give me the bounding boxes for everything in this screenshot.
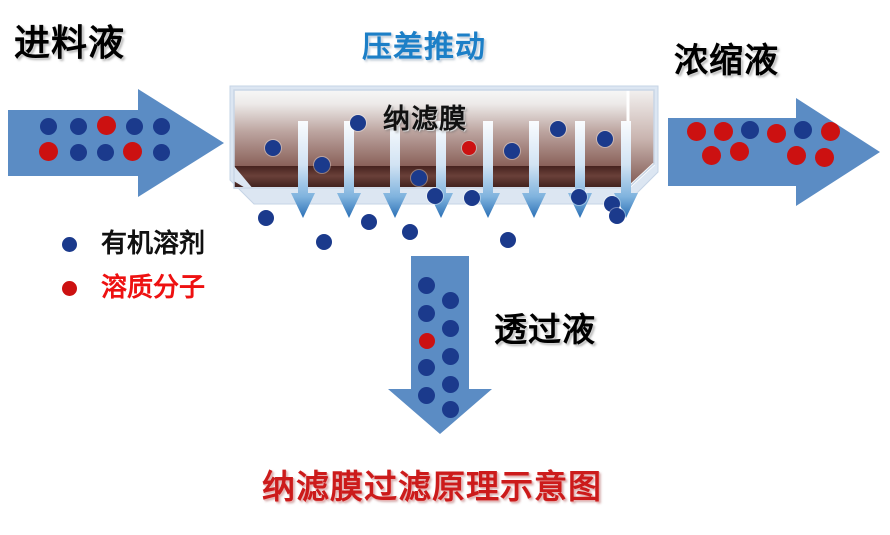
concentrate-arrow — [668, 98, 880, 206]
molecule-solvent — [442, 401, 459, 418]
nanofiltration-diagram: 进料液 压差推动 — [0, 0, 890, 535]
molecule-solvent — [418, 277, 435, 294]
molecule-solute — [123, 142, 142, 161]
molecule-solute — [39, 142, 58, 161]
legend-label-solute: 溶质分子 — [101, 275, 205, 301]
molecule-solvent — [418, 305, 435, 322]
molecule-solvent — [597, 131, 613, 147]
molecule-solvent — [350, 115, 366, 131]
molecule-solvent — [70, 144, 87, 161]
concentrate-label: 浓缩液 — [674, 44, 779, 78]
molecule-solute — [97, 116, 116, 135]
molecule-solvent — [153, 144, 170, 161]
legend-dot-solvent — [62, 237, 77, 252]
molecule-solvent — [442, 292, 459, 309]
feed-arrow — [8, 89, 224, 197]
molecule-solute — [419, 333, 435, 349]
molecule-solvent — [427, 188, 443, 204]
molecule-solute — [714, 122, 733, 141]
molecule-solvent — [314, 157, 330, 173]
molecule-solvent — [794, 121, 812, 139]
molecule-solvent — [316, 234, 332, 250]
molecule-solvent — [442, 376, 459, 393]
feed-label: 进料液 — [14, 26, 125, 62]
concentrate-arrow-shape — [668, 98, 880, 206]
permeate-label: 透过液 — [494, 313, 596, 346]
molecule-solvent — [609, 208, 625, 224]
molecule-solvent — [361, 214, 377, 230]
molecule-solvent — [265, 140, 281, 156]
molecule-solvent — [402, 224, 418, 240]
legend: 有机溶剂 溶质分子 — [62, 222, 205, 310]
legend-item-solute: 溶质分子 — [62, 266, 205, 310]
molecule-solvent — [442, 320, 459, 337]
molecule-solute — [787, 146, 806, 165]
legend-item-solvent: 有机溶剂 — [62, 222, 205, 266]
molecule-solvent — [504, 143, 520, 159]
permeate-arrow-shape — [388, 256, 492, 434]
molecule-solvent — [418, 387, 435, 404]
molecule-solvent — [464, 190, 480, 206]
membrane-label: 纳滤膜 — [383, 106, 467, 133]
molecule-solvent — [40, 118, 57, 135]
molecule-solvent — [70, 118, 87, 135]
molecule-solute — [815, 148, 834, 167]
feed-arrow-shape — [8, 89, 224, 197]
molecule-solvent — [500, 232, 516, 248]
molecule-solute — [462, 141, 476, 155]
permeate-arrow — [388, 256, 492, 434]
molecule-solvent — [442, 348, 459, 365]
molecule-solvent — [411, 170, 427, 186]
pressure-driving-label: 压差推动 — [362, 33, 486, 63]
legend-dot-solute — [62, 281, 77, 296]
molecule-solvent — [153, 118, 170, 135]
molecule-solvent — [97, 144, 114, 161]
molecule-solute — [821, 122, 840, 141]
molecule-solvent — [741, 121, 759, 139]
legend-label-solvent: 有机溶剂 — [101, 231, 205, 257]
flux-arrow — [522, 121, 536, 218]
molecule-solvent — [571, 189, 587, 205]
flux-arrow — [383, 121, 397, 218]
flux-arrow — [476, 121, 490, 218]
molecule-solvent — [418, 359, 435, 376]
molecule-solute — [702, 146, 721, 165]
molecule-solute — [687, 122, 706, 141]
molecule-solvent — [550, 121, 566, 137]
molecule-solvent — [258, 210, 274, 226]
flux-arrow — [337, 121, 351, 218]
molecule-solute — [767, 124, 786, 143]
molecule-solvent — [126, 118, 143, 135]
molecule-solute — [730, 142, 749, 161]
figure-title: 纳滤膜过滤原理示意图 — [262, 470, 602, 503]
flux-arrow — [291, 121, 305, 218]
